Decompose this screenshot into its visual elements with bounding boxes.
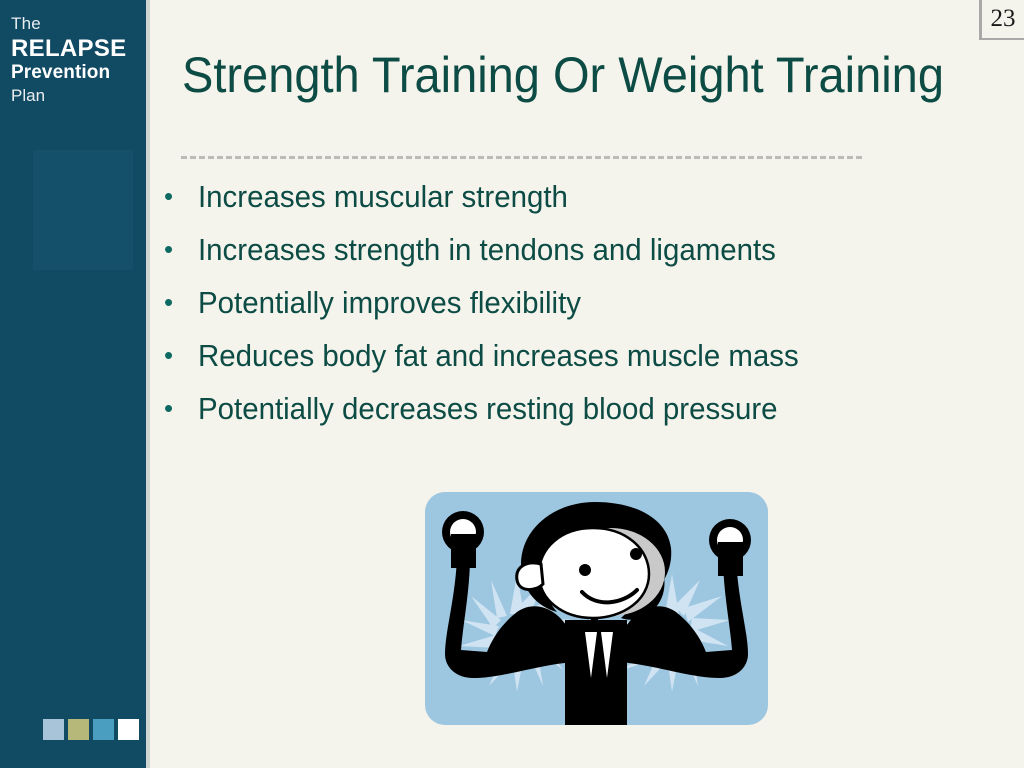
list-item-label: Reduces body fat and increases muscle ma… <box>198 331 799 381</box>
list-item-label: Potentially improves flexibility <box>198 278 581 328</box>
list-item: • Reduces body fat and increases muscle … <box>158 331 998 384</box>
swatch-khaki <box>68 719 89 740</box>
bullet-icon: • <box>158 384 198 432</box>
bullet-icon: • <box>158 278 198 326</box>
brand-line-relapse: RELAPSE <box>11 36 141 62</box>
list-item: • Potentially decreases resting blood pr… <box>158 384 998 437</box>
title-divider <box>181 156 862 159</box>
bullet-icon: • <box>158 225 198 273</box>
swatch-blue <box>93 719 114 740</box>
swatch-white <box>118 719 139 740</box>
sidebar-divider <box>146 0 150 768</box>
brand-logo: The RELAPSE Prevention Plan <box>11 14 141 106</box>
swatch-strip <box>43 719 139 740</box>
sidebar: The RELAPSE Prevention Plan <box>0 0 146 768</box>
brand-line-the: The <box>11 14 141 34</box>
brand-line-prevention: Prevention <box>11 62 141 84</box>
sidebar-watermark <box>33 150 133 270</box>
flexing-muscles-figure-icon <box>425 492 768 725</box>
bullet-icon: • <box>158 172 198 220</box>
list-item-label: Increases muscular strength <box>198 172 568 222</box>
bullet-list: • Increases muscular strength • Increase… <box>158 172 998 437</box>
list-item: • Increases strength in tendons and liga… <box>158 225 998 278</box>
bullet-icon: • <box>158 331 198 379</box>
list-item: • Increases muscular strength <box>158 172 998 225</box>
page-number: 23 <box>979 0 1024 40</box>
slide: The RELAPSE Prevention Plan 23 Strength … <box>0 0 1024 768</box>
brand-line-plan: Plan <box>11 86 141 106</box>
list-item: • Potentially improves flexibility <box>158 278 998 331</box>
swatch-light-blue <box>43 719 64 740</box>
list-item-label: Increases strength in tendons and ligame… <box>198 225 776 275</box>
list-item-label: Potentially decreases resting blood pres… <box>198 384 778 434</box>
page-title: Strength Training Or Weight Training <box>182 44 925 106</box>
